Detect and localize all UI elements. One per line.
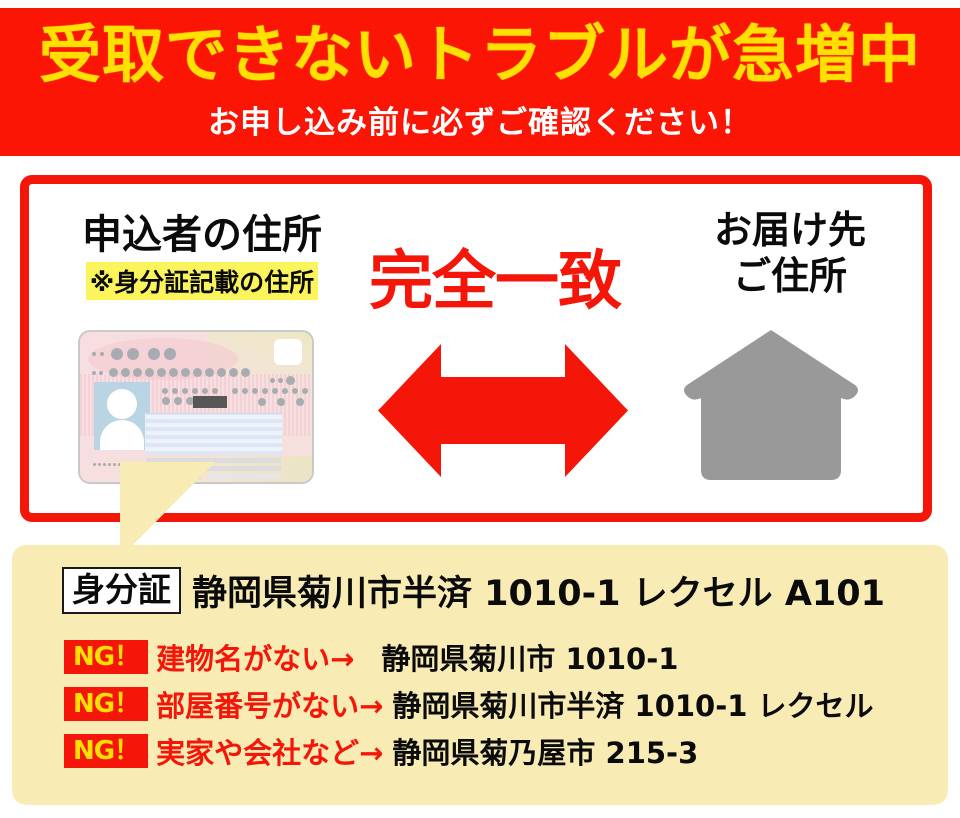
ng-row: NG！ 建物名がない→ 静岡県菊川市 1010-1 [64, 638, 874, 676]
id-card-dot-row-1 [92, 348, 176, 360]
ng-reason: 部屋番号がない→ [156, 683, 383, 725]
card-pointer-triangle [120, 462, 215, 558]
applicant-address-label: 申込者の住所 ※身分証記載の住所 [52, 213, 352, 300]
destination-address-label: お届け先 ご住所 [655, 207, 925, 300]
ng-badge: NG！ [64, 734, 148, 769]
house-icon [683, 330, 859, 480]
id-card-dot-row-2 [92, 368, 250, 377]
id-card-dot-row-6 [258, 398, 304, 406]
id-card-dot-row-4 [162, 388, 308, 394]
ng-badge: NG！ [64, 640, 148, 675]
id-card-text-block [145, 413, 282, 455]
ng-row: NG！ 部屋番号がない→ 静岡県菊川市半済 1010-1 レクセル [64, 685, 874, 723]
header-banner: 受取できないトラブルが急増中 お申し込み前に必ずご確認ください！ [0, 8, 960, 156]
destination-address-line2: ご住所 [655, 253, 925, 299]
id-card-photo-head [107, 389, 137, 419]
id-card-photo-body [100, 420, 144, 450]
id-card-photo [94, 382, 150, 450]
id-address-value: 静岡県菊川市半済 1010-1 レクセル A101 [192, 565, 885, 616]
ng-example: 静岡県菊川市 1010-1 [381, 636, 678, 678]
id-card-line-4 [208, 474, 281, 479]
id-card-dot-row-3 [270, 376, 295, 385]
ng-example: 静岡県菊川市半済 1010-1 レクセル [392, 683, 873, 725]
id-card-dark-bar [193, 396, 227, 408]
applicant-address-note: ※身分証記載の住所 [86, 262, 318, 300]
id-card-icon [78, 330, 314, 484]
ng-badge: NG！ [64, 687, 148, 722]
applicant-address-title: 申込者の住所 [52, 213, 352, 257]
id-example-row: 身分証 静岡県菊川市半済 1010-1 レクセル A101 [62, 565, 885, 616]
ng-row: NG！ 実家や会社など→ 静岡県菊乃屋市 215-3 [64, 732, 874, 770]
destination-address-line1: お届け先 [655, 207, 925, 253]
exact-match-text: 完全一致 [345, 250, 645, 314]
id-card-dot-row-5 [162, 397, 194, 405]
banner-title: 受取できないトラブルが急増中 [39, 22, 921, 87]
double-arrow-icon [378, 344, 628, 477]
id-badge-label: 身分証 [62, 567, 181, 613]
ng-reason: 建物名がない→ [156, 636, 354, 678]
banner-subtitle: お申し込み前に必ずご確認ください！ [208, 97, 752, 142]
id-card-blank-area [274, 339, 302, 365]
ng-example: 静岡県菊乃屋市 215-3 [392, 730, 698, 772]
ng-reason: 実家や会社など→ [156, 730, 383, 772]
ng-list: NG！ 建物名がない→ 静岡県菊川市 1010-1 NG！ 部屋番号がない→ 静… [64, 638, 874, 779]
